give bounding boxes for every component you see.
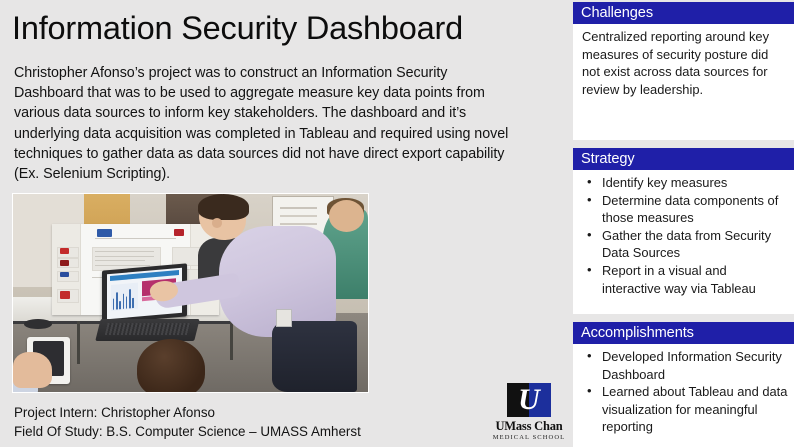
poster-icon <box>60 260 68 265</box>
poster-icon <box>60 272 68 277</box>
panel-strategy: Strategy Identify key measures Determine… <box>573 148 794 314</box>
logo-u-letter: U <box>506 383 552 417</box>
photo-viewer-hand <box>13 352 52 388</box>
dashboard-bar <box>132 299 133 309</box>
photo-mouse <box>24 319 52 329</box>
list-item: Determine data components of those measu… <box>582 192 788 227</box>
dashboard-bar <box>122 294 123 309</box>
panel-challenges-header: Challenges <box>573 2 794 24</box>
list-item: Developed Information Security Dashboard <box>582 348 788 383</box>
photo-seated-viewer <box>137 339 204 393</box>
list-item: Identify key measures <box>582 174 788 192</box>
dashboard-chart <box>111 282 138 311</box>
photo-scene <box>13 194 368 392</box>
photo-presenter-pants <box>272 321 357 392</box>
poster-logo <box>97 229 112 237</box>
photo-presenter-badge <box>276 309 292 327</box>
panel-accomplishments-body: Developed Information Security Dashboard… <box>573 344 794 440</box>
poster-icon <box>60 291 70 299</box>
umass-chan-logo: U UMass Chan MEDICAL SCHOOL <box>490 383 568 441</box>
list-item: Report in a visual and interactive way v… <box>582 262 788 297</box>
project-photo <box>12 193 369 393</box>
dashboard-bar <box>119 301 120 309</box>
strategy-bullet-list: Identify key measures Determine data com… <box>582 174 788 297</box>
dashboard-bar <box>126 297 127 309</box>
poster-icon <box>60 248 68 253</box>
photo-laptop-keyboard <box>105 323 191 335</box>
logo-mark-icon: U <box>506 383 552 417</box>
list-item: Learned about Tableau and data visualiza… <box>582 383 788 436</box>
dashboard-bar <box>129 289 130 308</box>
photo-laptop-base <box>95 319 200 341</box>
list-item: Gather the data from Security Data Sourc… <box>582 227 788 262</box>
dashboard-bar <box>116 293 117 310</box>
panel-challenges-body: Centralized reporting around key measure… <box>573 24 794 102</box>
panel-accomplishments-header: Accomplishments <box>573 322 794 344</box>
poster-text-line <box>95 256 153 257</box>
panel-strategy-body: Identify key measures Determine data com… <box>573 170 794 301</box>
dashboard-bar <box>113 299 114 310</box>
page-title: Information Security Dashboard <box>12 8 552 48</box>
right-panel-column: Challenges Centralized reporting around … <box>566 0 794 447</box>
poster-text-line <box>95 251 153 252</box>
caption-intern-line: Project Intern: Christopher Afonso <box>14 403 484 422</box>
panel-challenges: Challenges Centralized reporting around … <box>573 2 794 140</box>
poster-text-line <box>95 265 150 266</box>
poster-title-line <box>95 238 175 239</box>
panel-strategy-header: Strategy <box>573 148 794 170</box>
panel-accomplishments: Accomplishments Developed Information Se… <box>573 322 794 447</box>
caption: Project Intern: Christopher Afonso Field… <box>14 403 484 441</box>
caption-field-line: Field Of Study: B.S. Computer Science – … <box>14 422 484 441</box>
poster-text-line <box>95 260 145 261</box>
slide-canvas: Information Security Dashboard Christoph… <box>0 0 794 447</box>
logo-subtitle: MEDICAL SCHOOL <box>490 433 568 442</box>
photo-table-leg <box>230 321 233 361</box>
photo-presenter-hair <box>198 194 249 220</box>
photo-presenter-ear <box>212 218 223 228</box>
poster-logo-secondary <box>174 229 184 236</box>
photo-table-leg <box>77 321 80 365</box>
accomplishments-bullet-list: Developed Information Security Dashboard… <box>582 348 788 436</box>
logo-wordmark: UMass Chan <box>490 419 568 433</box>
photo-person-right-head <box>329 200 365 232</box>
left-content-column: Information Security Dashboard Christoph… <box>0 0 566 447</box>
intro-paragraph: Christopher Afonso’s project was to cons… <box>14 63 514 184</box>
